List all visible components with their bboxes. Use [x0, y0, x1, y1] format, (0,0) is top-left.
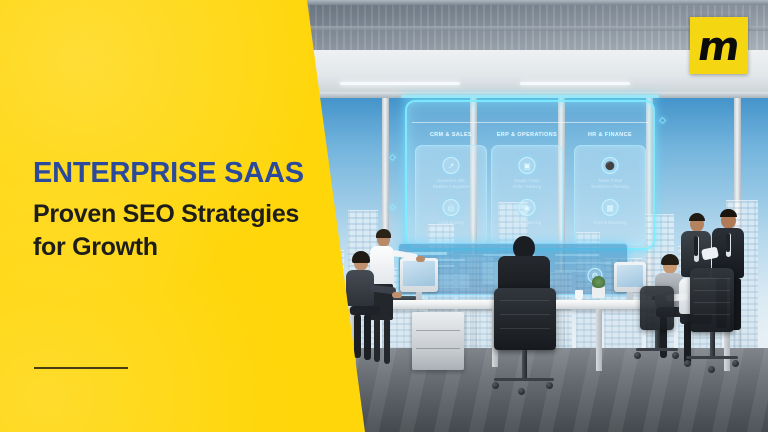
brand-logo[interactable]: m	[690, 17, 748, 74]
title-underline-rule	[34, 367, 128, 369]
monitor-stand	[627, 292, 633, 300]
person-hand	[392, 292, 402, 298]
person-leg	[384, 318, 390, 364]
monitor	[400, 258, 438, 292]
person-leg	[354, 314, 361, 358]
person-tie	[694, 236, 698, 256]
chair-caster	[518, 388, 525, 395]
people-icon: ⚫	[602, 157, 619, 174]
chair-caster	[634, 352, 641, 359]
logo-letter: m	[695, 27, 743, 67]
hud-panel-title-hr: HR & FINANCE	[564, 132, 656, 138]
chair-caster	[684, 360, 691, 367]
hud-panel-title-erp: ERP & OPERATIONS	[481, 132, 573, 138]
headline-line-1: Proven SEO Strategies	[33, 200, 299, 228]
person-hair	[720, 209, 737, 217]
chair-caster	[708, 366, 715, 373]
chair-post	[710, 332, 715, 358]
desk-pedestal	[412, 312, 464, 370]
office-chair-back	[640, 286, 674, 330]
hud-panel-hr: ⚫ Talent Portal Workforce Planning ▦ Pay…	[574, 145, 646, 245]
chart-growth-icon: ↗	[443, 157, 460, 174]
pipeline-icon: ◎	[443, 199, 460, 216]
coffee-cup	[575, 290, 583, 300]
payroll-icon: ▦	[602, 199, 619, 216]
office-chair-back	[494, 288, 556, 350]
headline-line-2: for Growth	[33, 233, 158, 261]
plant-foliage	[592, 276, 605, 288]
chair-base	[686, 356, 738, 359]
banner-canvas: CRM & SALES ↗ Dynamics 365 Pipeline Inte…	[0, 0, 768, 432]
gear-icon: ◉	[519, 199, 536, 216]
shield-check-icon: ▣	[519, 157, 536, 174]
monitor-stand	[416, 292, 422, 300]
hud-panel-crm: ↗ Dynamics 365 Pipeline Integration ◎ Le…	[415, 145, 487, 245]
hud-divider	[412, 122, 648, 123]
hud-item-label: Asset Planning	[497, 220, 557, 226]
person-hand	[416, 256, 425, 262]
chair-caster	[546, 382, 553, 389]
chair-post	[522, 350, 527, 380]
hud-item-label: Lead Scoring	[421, 220, 481, 226]
chair-caster	[672, 352, 679, 359]
person-leg	[374, 318, 380, 362]
person-hair	[352, 251, 370, 263]
hud-item-label: Order Tracking	[497, 184, 557, 190]
ceiling-light	[340, 82, 460, 85]
hud-item-label: Pipeline Integration	[421, 184, 481, 190]
ceiling-light	[520, 82, 630, 85]
person-tie	[726, 233, 730, 252]
desk-leg	[596, 309, 602, 371]
kicker-heading: ENTERPRISE SAAS	[33, 159, 304, 188]
chair-caster	[732, 360, 739, 367]
chair-base	[636, 348, 678, 351]
hud-panel-erp: ▣ Supply Chain Order Tracking ◉ Asset Pl…	[491, 145, 563, 245]
person-leg	[364, 314, 371, 360]
chair-base	[494, 378, 554, 381]
person-hair	[376, 229, 391, 238]
chair-caster	[492, 382, 499, 389]
chair-post	[655, 330, 660, 350]
page-title: Proven SEO Strategies for Growth	[33, 198, 333, 264]
hud-item-label: Payroll Reporting	[580, 220, 640, 226]
person-hair	[661, 254, 679, 265]
hud-item-label: Workforce Planning	[580, 184, 640, 190]
office-chair-back	[690, 268, 734, 332]
